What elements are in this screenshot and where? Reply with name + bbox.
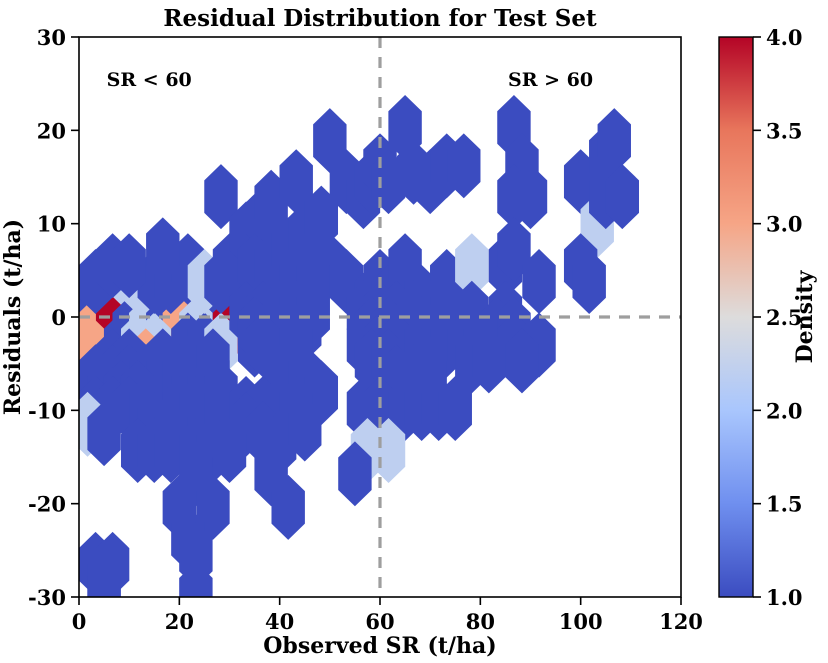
y-tick-label: 20 [37, 118, 66, 143]
figure-container: 020406080100120 -30-20-100102030 Residua… [0, 0, 828, 663]
x-tick-label: 100 [559, 609, 603, 634]
colorbar-tick-label: 3.0 [766, 212, 803, 237]
x-tick-label: 20 [165, 609, 194, 634]
annotation-sr-greater-than-60: SR > 60 [508, 69, 593, 91]
colorbar-tick-label: 2.0 [766, 398, 803, 423]
colorbar-tick-label: 3.5 [766, 118, 803, 143]
colorbar-tick-label: 1.5 [766, 492, 803, 517]
x-tick-label: 0 [72, 609, 87, 634]
x-tick-label: 120 [659, 609, 703, 634]
y-tick-label: 30 [37, 25, 66, 50]
x-tick-label: 80 [466, 609, 495, 634]
y-tick-label: -10 [28, 398, 66, 423]
hexbin-residual-plot: 020406080100120 -30-20-100102030 Residua… [0, 0, 828, 663]
y-axis-label: Residuals (t/ha) [0, 219, 26, 415]
colorbar-tick-label: 4.0 [766, 25, 803, 50]
plot-title: Residual Distribution for Test Set [163, 5, 597, 32]
x-axis-label: Observed SR (t/ha) [263, 633, 496, 659]
colorbar-gradient [719, 37, 753, 597]
colorbar-label: Density [792, 269, 818, 363]
x-tick-label: 60 [365, 609, 394, 634]
y-tick-label: -20 [28, 492, 66, 517]
y-tick-label: 0 [51, 305, 66, 330]
colorbar-tick-label: 1.0 [766, 585, 803, 610]
y-tick-label: 10 [37, 212, 66, 237]
y-tick-label: -30 [28, 585, 66, 610]
x-tick-label: 40 [265, 609, 294, 634]
annotation-sr-less-than-60: SR < 60 [107, 69, 192, 91]
